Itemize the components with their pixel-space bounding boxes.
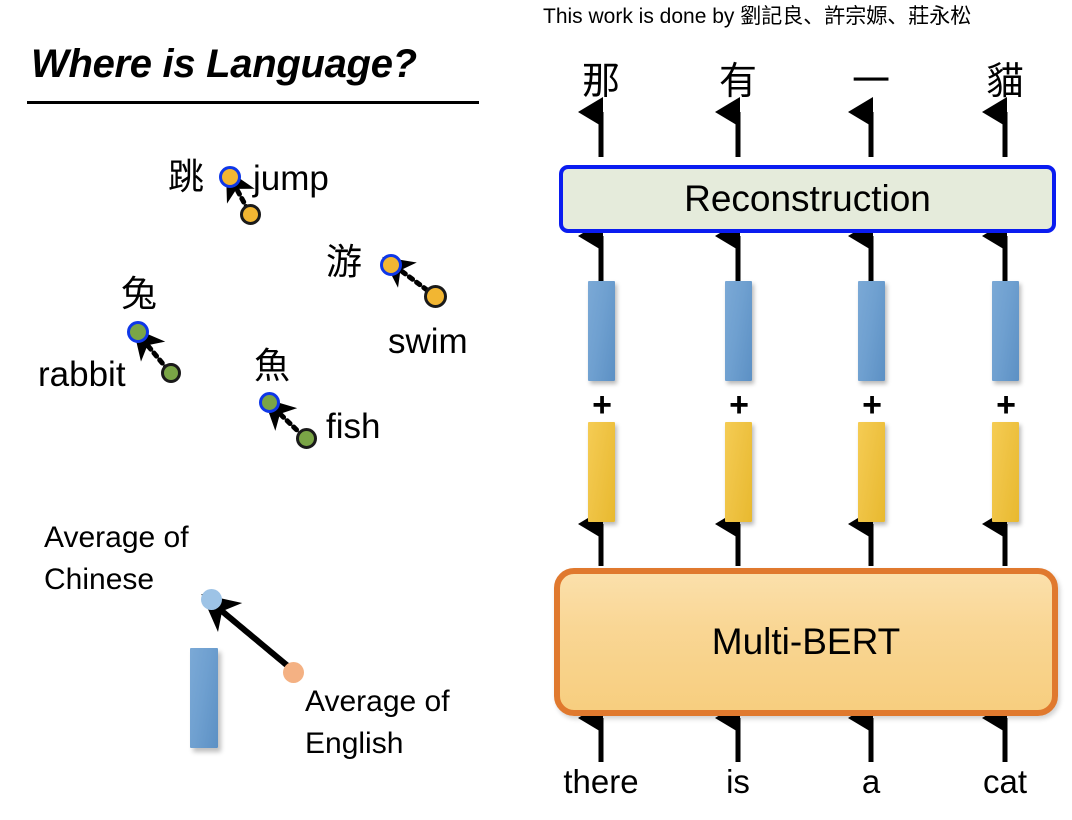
output-token-3: 貓 xyxy=(965,62,1045,102)
plus-operator-3: + xyxy=(986,388,1026,422)
word-label-chinese-jump: 跳 xyxy=(168,158,204,196)
word-label-chinese-fish: 魚 xyxy=(254,347,290,385)
average-chinese-label-line2: Chinese xyxy=(44,562,154,598)
plus-operator-1: + xyxy=(719,388,759,422)
embedding-bar-lower-2 xyxy=(858,422,885,522)
word-label-english-jump: jump xyxy=(253,160,329,198)
plus-operator-2: + xyxy=(852,388,892,422)
embedding-bar-lower-0 xyxy=(588,422,615,522)
slide-canvas: This work is done by 劉記良、許宗嫄、莊永松 Where i… xyxy=(0,0,1072,820)
word-label-english-rabbit: rabbit xyxy=(38,356,126,394)
output-token-1: 有 xyxy=(698,62,778,102)
word-label-english-fish: fish xyxy=(326,408,380,446)
output-token-2: 一 xyxy=(831,62,911,102)
word-label-english-swim: swim xyxy=(388,323,468,361)
embedding-bar-upper-3 xyxy=(992,281,1019,381)
embedding-bar-upper-0 xyxy=(588,281,615,381)
multi-bert-label: Multi-BERT xyxy=(712,621,900,663)
embedding-bar-upper-2 xyxy=(858,281,885,381)
average-chinese-label-line1: Average of xyxy=(44,520,189,556)
dot-average-chinese[interactable] xyxy=(201,589,222,610)
dot-chinese-swim[interactable] xyxy=(380,254,402,276)
dot-english-fish[interactable] xyxy=(296,428,317,449)
embedding-bar-lower-1 xyxy=(725,422,752,522)
input-token-2: a xyxy=(816,764,926,800)
model-diagram: 那 有 一 貓 Reconstruction + + + + Multi-BER… xyxy=(540,0,1072,820)
word-label-chinese-rabbit: 兔 xyxy=(121,275,157,313)
output-token-0: 那 xyxy=(561,62,641,102)
average-english-label-line2: English xyxy=(305,726,403,762)
input-token-3: cat xyxy=(950,764,1060,800)
reconstruction-label: Reconstruction xyxy=(684,178,931,220)
dot-english-jump[interactable] xyxy=(240,204,261,225)
average-english-label-line1: Average of xyxy=(305,684,450,720)
embedding-bar-upper-1 xyxy=(725,281,752,381)
dot-chinese-fish[interactable] xyxy=(259,392,280,413)
dot-average-english[interactable] xyxy=(283,662,304,683)
embedding-bar-lower-3 xyxy=(992,422,1019,522)
word-label-chinese-swim: 游 xyxy=(326,243,362,281)
dot-english-rabbit[interactable] xyxy=(161,363,181,383)
multi-bert-block[interactable]: Multi-BERT xyxy=(554,568,1058,716)
embedding-bar-left-panel xyxy=(190,648,218,748)
dot-english-swim[interactable] xyxy=(424,285,447,308)
plus-operator-0: + xyxy=(582,388,622,422)
input-token-0: there xyxy=(546,764,656,800)
input-token-1: is xyxy=(683,764,793,800)
dot-chinese-jump[interactable] xyxy=(219,166,241,188)
dot-chinese-rabbit[interactable] xyxy=(127,321,149,343)
reconstruction-block[interactable]: Reconstruction xyxy=(559,165,1056,233)
